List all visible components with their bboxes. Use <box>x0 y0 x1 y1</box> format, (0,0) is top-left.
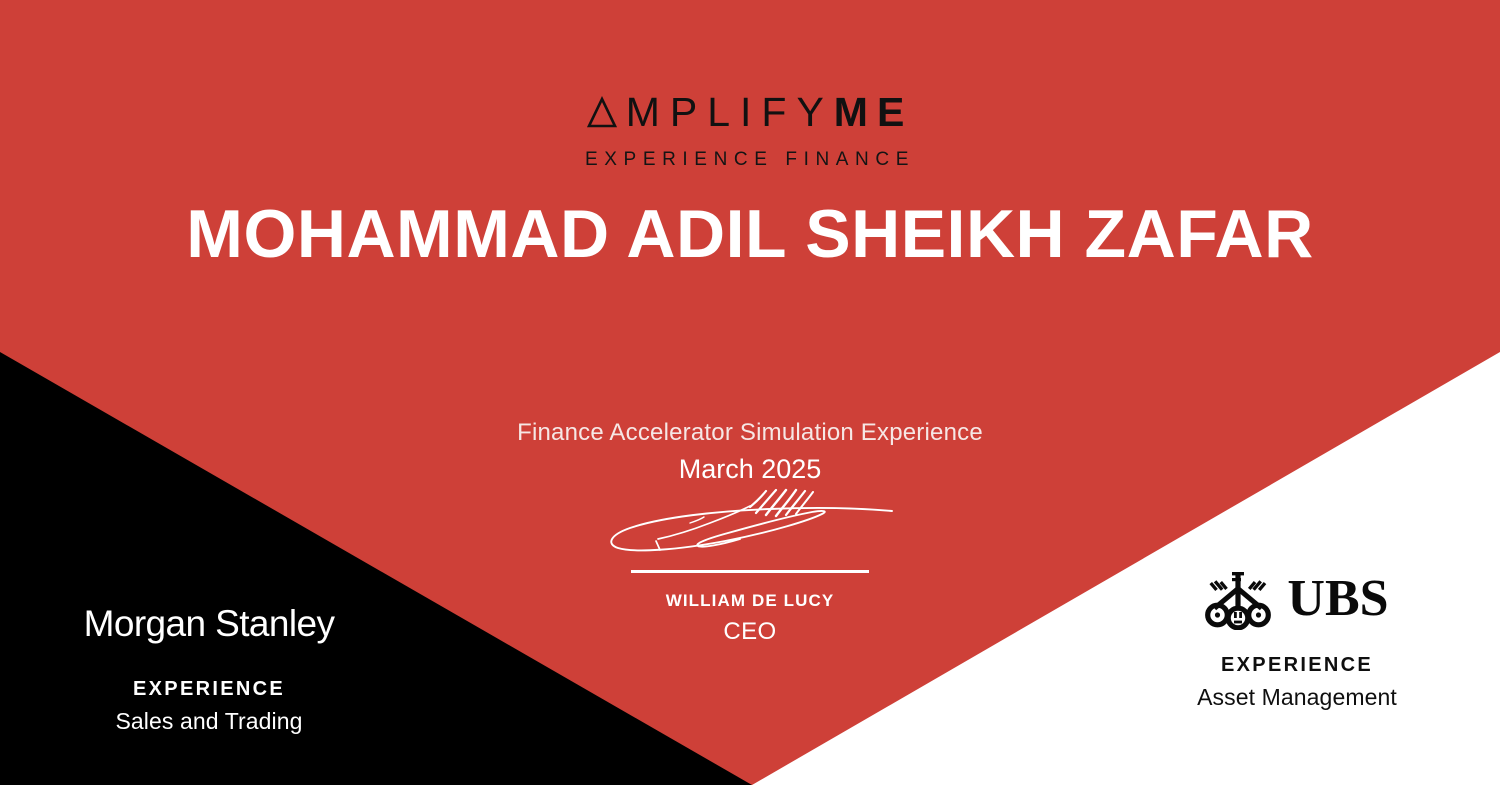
signatory-name: WILLIAM DE LUCY <box>560 591 940 611</box>
ubs-wordmark: UBS <box>1287 573 1388 625</box>
partner-block-ubs: UBS EXPERIENCE Asset Management <box>1122 568 1472 711</box>
program-title: Finance Accelerator Simulation Experienc… <box>0 419 1500 447</box>
brand-wordmark: MPLIFYME <box>587 92 914 135</box>
partner-experience-label: EXPERIENCE <box>34 678 384 701</box>
brand-wordmark-light: MPLIFY <box>626 89 834 135</box>
partner-experience-label: EXPERIENCE <box>1122 654 1472 677</box>
recipient-name: MOHAMMAD ADIL SHEIKH ZAFAR <box>150 186 1350 283</box>
partner-experience-desc: Sales and Trading <box>34 708 384 735</box>
signature-block: WILLIAM DE LUCY CEO <box>560 484 940 646</box>
signatory-title: CEO <box>560 618 940 646</box>
triangle-a-icon <box>587 94 617 135</box>
certificate-canvas: MPLIFYME EXPERIENCE FINANCE MOHAMMAD ADI… <box>0 0 1500 785</box>
signature-divider <box>631 570 869 573</box>
morgan-stanley-logo: Morgan Stanley <box>34 592 384 654</box>
triangle-a-glyph <box>587 96 617 128</box>
morgan-stanley-wordmark: Morgan Stanley <box>84 605 335 642</box>
brand-tagline: EXPERIENCE FINANCE <box>0 149 1500 171</box>
ubs-logo: UBS <box>1122 568 1472 630</box>
handwritten-signature-icon <box>600 484 900 564</box>
partner-experience-desc: Asset Management <box>1122 684 1472 711</box>
program-date: March 2025 <box>0 454 1500 485</box>
brand-logo: MPLIFYME EXPERIENCE FINANCE <box>0 92 1500 171</box>
partner-block-morgan-stanley: Morgan Stanley EXPERIENCE Sales and Trad… <box>34 592 384 735</box>
ubs-keys-icon <box>1205 568 1271 630</box>
brand-wordmark-bold: ME <box>834 89 914 135</box>
